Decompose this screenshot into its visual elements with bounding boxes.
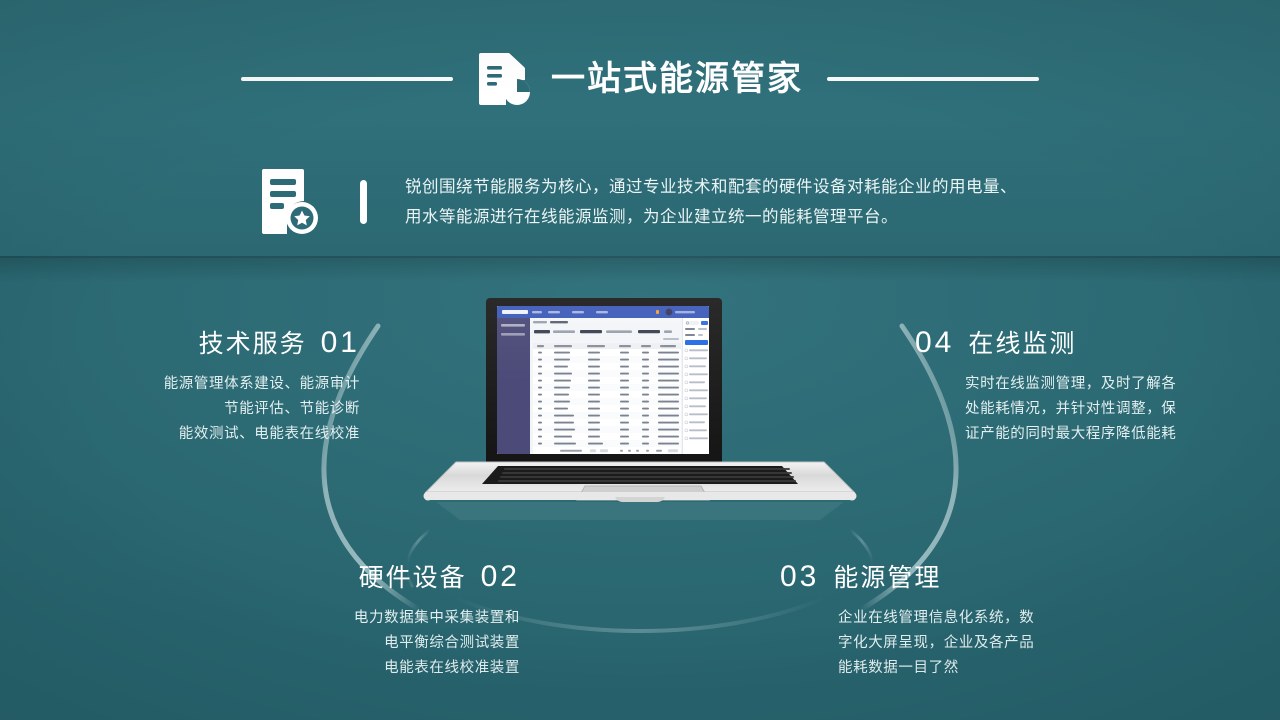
header-rule-left bbox=[241, 77, 453, 81]
feature-01-head: 技术服务 01 bbox=[30, 328, 360, 358]
feature-03-name: 能源管理 bbox=[833, 566, 941, 591]
feature-03-desc: 企业在线管理信息化系统，数字化大屏呈现，企业及各产品能耗数据一目了然 bbox=[780, 606, 1110, 681]
document-star-icon bbox=[258, 166, 324, 238]
feature-01-name: 技术服务 bbox=[199, 332, 307, 357]
feature-01-desc: 能源管理体系建设、能源审计节能评估、节能诊断能效测试、电能表在线校准 bbox=[30, 372, 360, 447]
feature-04-desc: 实时在线监测管理，及时了解各处能耗情况，并针对性调整，保证产能的同时最大程序降低… bbox=[915, 372, 1255, 447]
feature-01-number: 01 bbox=[321, 328, 360, 358]
header-rule-right bbox=[827, 77, 1039, 81]
feature-02-head: 硬件设备 02 bbox=[200, 562, 520, 592]
feature-02-desc: 电力数据集中采集装置和电平衡综合测试装置电能表在线校准装置 bbox=[200, 606, 520, 681]
feature-04-number: 04 bbox=[915, 328, 954, 358]
laptop-mockup bbox=[420, 290, 860, 540]
feature-04-name: 在线监测 bbox=[968, 332, 1076, 357]
feature-block-04[interactable]: 04 在线监测 实时在线监测管理，及时了解各处能耗情况，并针对性调整，保证产能的… bbox=[915, 328, 1255, 447]
intro-text: 锐创围绕节能服务为核心，通过专业技术和配套的硬件设备对耗能企业的用电量、 用水等… bbox=[405, 172, 1017, 232]
feature-block-02[interactable]: 硬件设备 02 电力数据集中采集装置和电平衡综合测试装置电能表在线校准装置 bbox=[200, 562, 520, 681]
feature-04-head: 04 在线监测 bbox=[915, 328, 1255, 358]
page-title: 一站式能源管家 bbox=[551, 62, 803, 96]
feature-block-01[interactable]: 技术服务 01 能源管理体系建设、能源审计节能评估、节能诊断能效测试、电能表在线… bbox=[30, 328, 360, 447]
document-chart-icon bbox=[477, 50, 531, 108]
feature-02-name: 硬件设备 bbox=[359, 566, 467, 591]
feature-block-03[interactable]: 03 能源管理 企业在线管理信息化系统，数字化大屏呈现，企业及各产品能耗数据一目… bbox=[780, 562, 1110, 681]
feature-03-number: 03 bbox=[780, 562, 819, 592]
intro-divider bbox=[360, 180, 367, 224]
header-title-group: 一站式能源管家 bbox=[477, 50, 803, 108]
intro-block: 锐创围绕节能服务为核心，通过专业技术和配套的硬件设备对耗能企业的用电量、 用水等… bbox=[258, 160, 1218, 244]
feature-02-number: 02 bbox=[481, 562, 520, 592]
feature-03-head: 03 能源管理 bbox=[780, 562, 1110, 592]
intro-line-2: 用水等能源进行在线能源监测，为企业建立统一的能耗管理平台。 bbox=[405, 202, 1017, 232]
page-header: 一站式能源管家 bbox=[0, 46, 1280, 112]
intro-line-1: 锐创围绕节能服务为核心，通过专业技术和配套的硬件设备对耗能企业的用电量、 bbox=[405, 172, 1017, 202]
